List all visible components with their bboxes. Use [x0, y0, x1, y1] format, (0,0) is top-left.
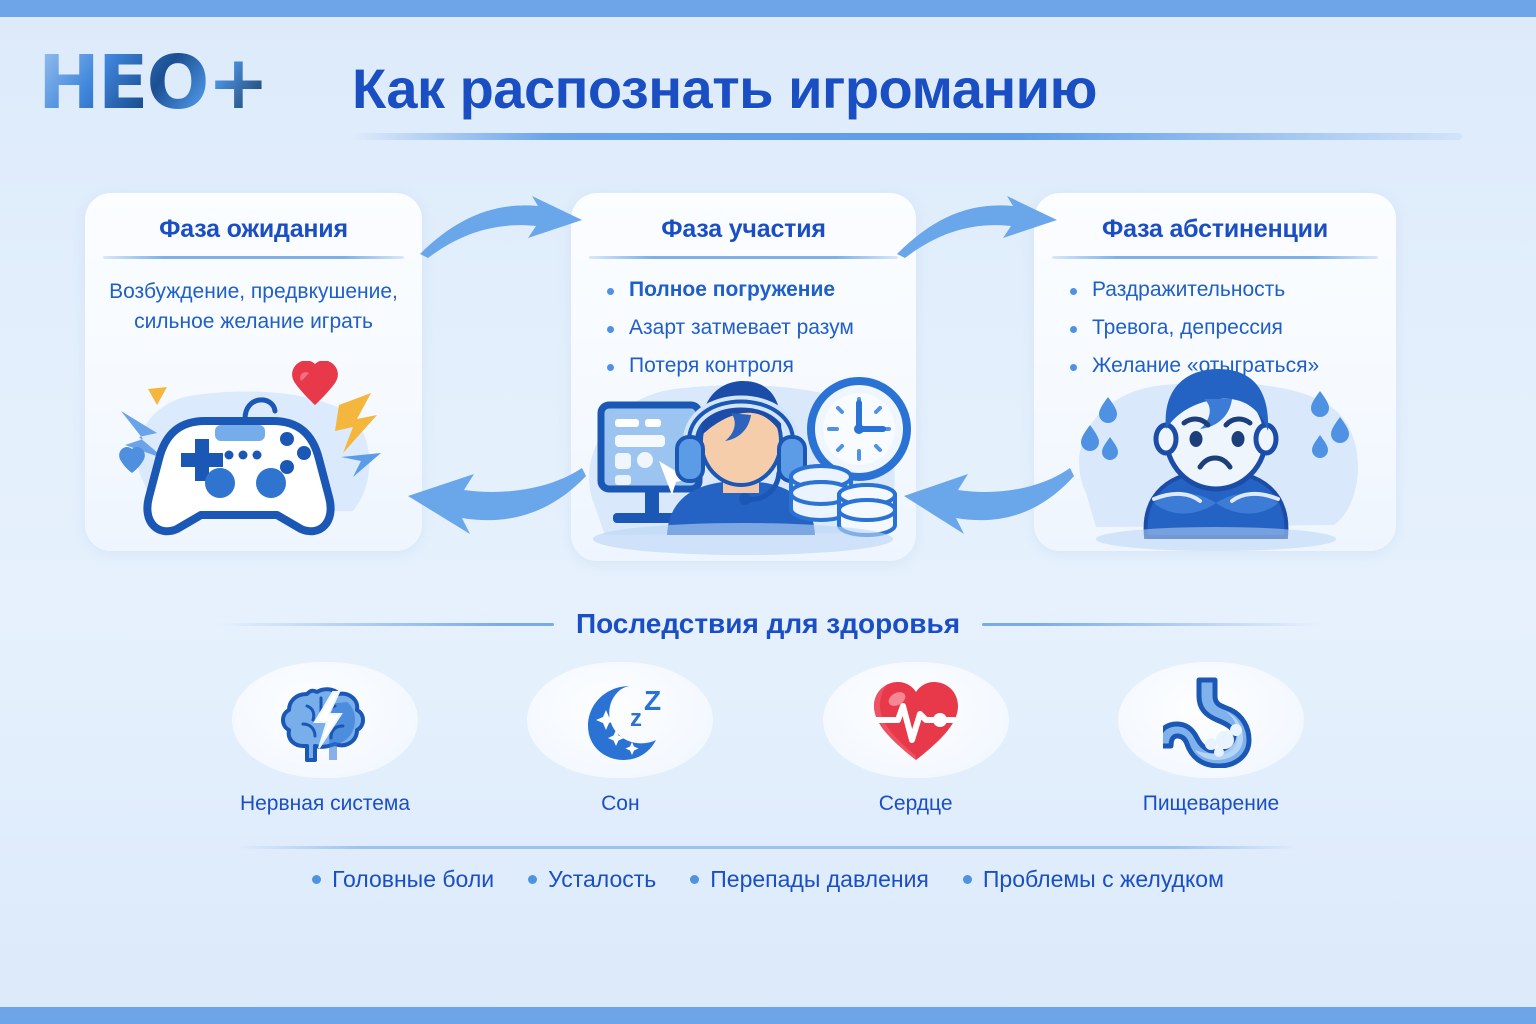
organ-label: Нервная система: [232, 792, 418, 816]
symptom-label: Проблемы с желудком: [983, 866, 1224, 893]
consequences-divider: [236, 846, 1300, 849]
symptom-label: Головные боли: [332, 866, 494, 893]
title-underline: [352, 133, 1462, 140]
list-item: Тревога, депрессия: [1066, 315, 1376, 342]
phase-title-anticipation: Фаза ожидания: [85, 193, 422, 244]
bottom-accent-bar: [0, 1007, 1536, 1024]
heart-ecg-icon: [866, 672, 966, 768]
phase-card-anticipation: Фаза ожидания Возбуждение, предвкушение,…: [85, 193, 422, 551]
list-item: Раздражительность: [1066, 277, 1376, 304]
bullet-dot-icon: [963, 875, 972, 884]
symptom-row: Головные боли Усталость Перепады давлени…: [0, 866, 1536, 893]
organ-label: Сердце: [823, 792, 1009, 816]
arrow-forward-anticipation-to-participation: [416, 196, 586, 258]
gamepad-heart-illustration: [85, 361, 422, 551]
brand-logo: НЕО+: [38, 46, 267, 120]
symptom-item: Головные боли: [312, 866, 494, 893]
organ-item-sleep: z Z Сон: [527, 662, 713, 816]
symptom-item: Усталость: [528, 866, 656, 893]
organ-bubble: [1118, 662, 1304, 778]
phase-body-anticipation: Возбуждение, предвкушение, сильное желан…: [85, 259, 422, 337]
top-accent-bar: [0, 0, 1536, 17]
arrow-back-withdrawal-to-participation: [900, 468, 1078, 538]
organ-item-digestion: Пищеварение: [1118, 662, 1304, 816]
infographic-page: НЕО+ Как распознать игроманию Фаза ожида…: [0, 0, 1536, 1024]
title-block: Как распознать игроманию: [352, 60, 1472, 140]
symptom-item: Проблемы с желудком: [963, 866, 1224, 893]
phase-description: Возбуждение, предвкушение, сильное желан…: [105, 277, 402, 337]
phase-title-withdrawal: Фаза абстиненции: [1034, 193, 1396, 244]
arrow-forward-participation-to-withdrawal: [893, 196, 1061, 258]
phase-card-withdrawal: Фаза абстиненции Раздражительность Трево…: [1034, 193, 1396, 551]
gamer-headset-clock-coins-illustration: [571, 361, 916, 561]
organ-label: Пищеварение: [1118, 792, 1304, 816]
organ-item-heart: Сердце: [823, 662, 1009, 816]
bullet-dot-icon: [312, 875, 321, 884]
list-item: Полное погружение: [603, 277, 896, 304]
organ-bubble: [232, 662, 418, 778]
organ-label: Сон: [527, 792, 713, 816]
consequences-title: Последствия для здоровья: [576, 608, 960, 640]
svg-text:Z: Z: [644, 685, 661, 716]
symptom-item: Перепады давления: [690, 866, 929, 893]
svg-text:z: z: [630, 705, 642, 732]
bullet-dot-icon: [690, 875, 699, 884]
heading-rule-left: [216, 623, 554, 626]
list-item: Азарт затмевает разум: [603, 315, 896, 342]
phase-title-participation: Фаза участия: [571, 193, 916, 244]
heading-rule-right: [982, 623, 1320, 626]
symptom-label: Перепады давления: [710, 866, 929, 893]
symptom-label: Усталость: [548, 866, 656, 893]
organ-icon-row: Нервная система z Z Сон: [232, 662, 1304, 816]
organ-item-nervous-system: Нервная система: [232, 662, 418, 816]
brain-lightning-icon: [277, 672, 373, 768]
stomach-icon: [1163, 672, 1259, 768]
organ-bubble: z Z: [527, 662, 713, 778]
organ-bubble: [823, 662, 1009, 778]
moon-zzz-icon: z Z: [572, 672, 668, 768]
header: НЕО+ Как распознать игроманию: [0, 38, 1536, 148]
consequences-heading: Последствия для здоровья: [0, 608, 1536, 640]
sad-person-illustration: [1034, 361, 1396, 551]
bullet-dot-icon: [528, 875, 537, 884]
page-title: Как распознать игроманию: [352, 60, 1472, 119]
arrow-back-participation-to-anticipation: [404, 468, 590, 538]
phase-card-participation: Фаза участия Полное погружение Азарт зат…: [571, 193, 916, 561]
